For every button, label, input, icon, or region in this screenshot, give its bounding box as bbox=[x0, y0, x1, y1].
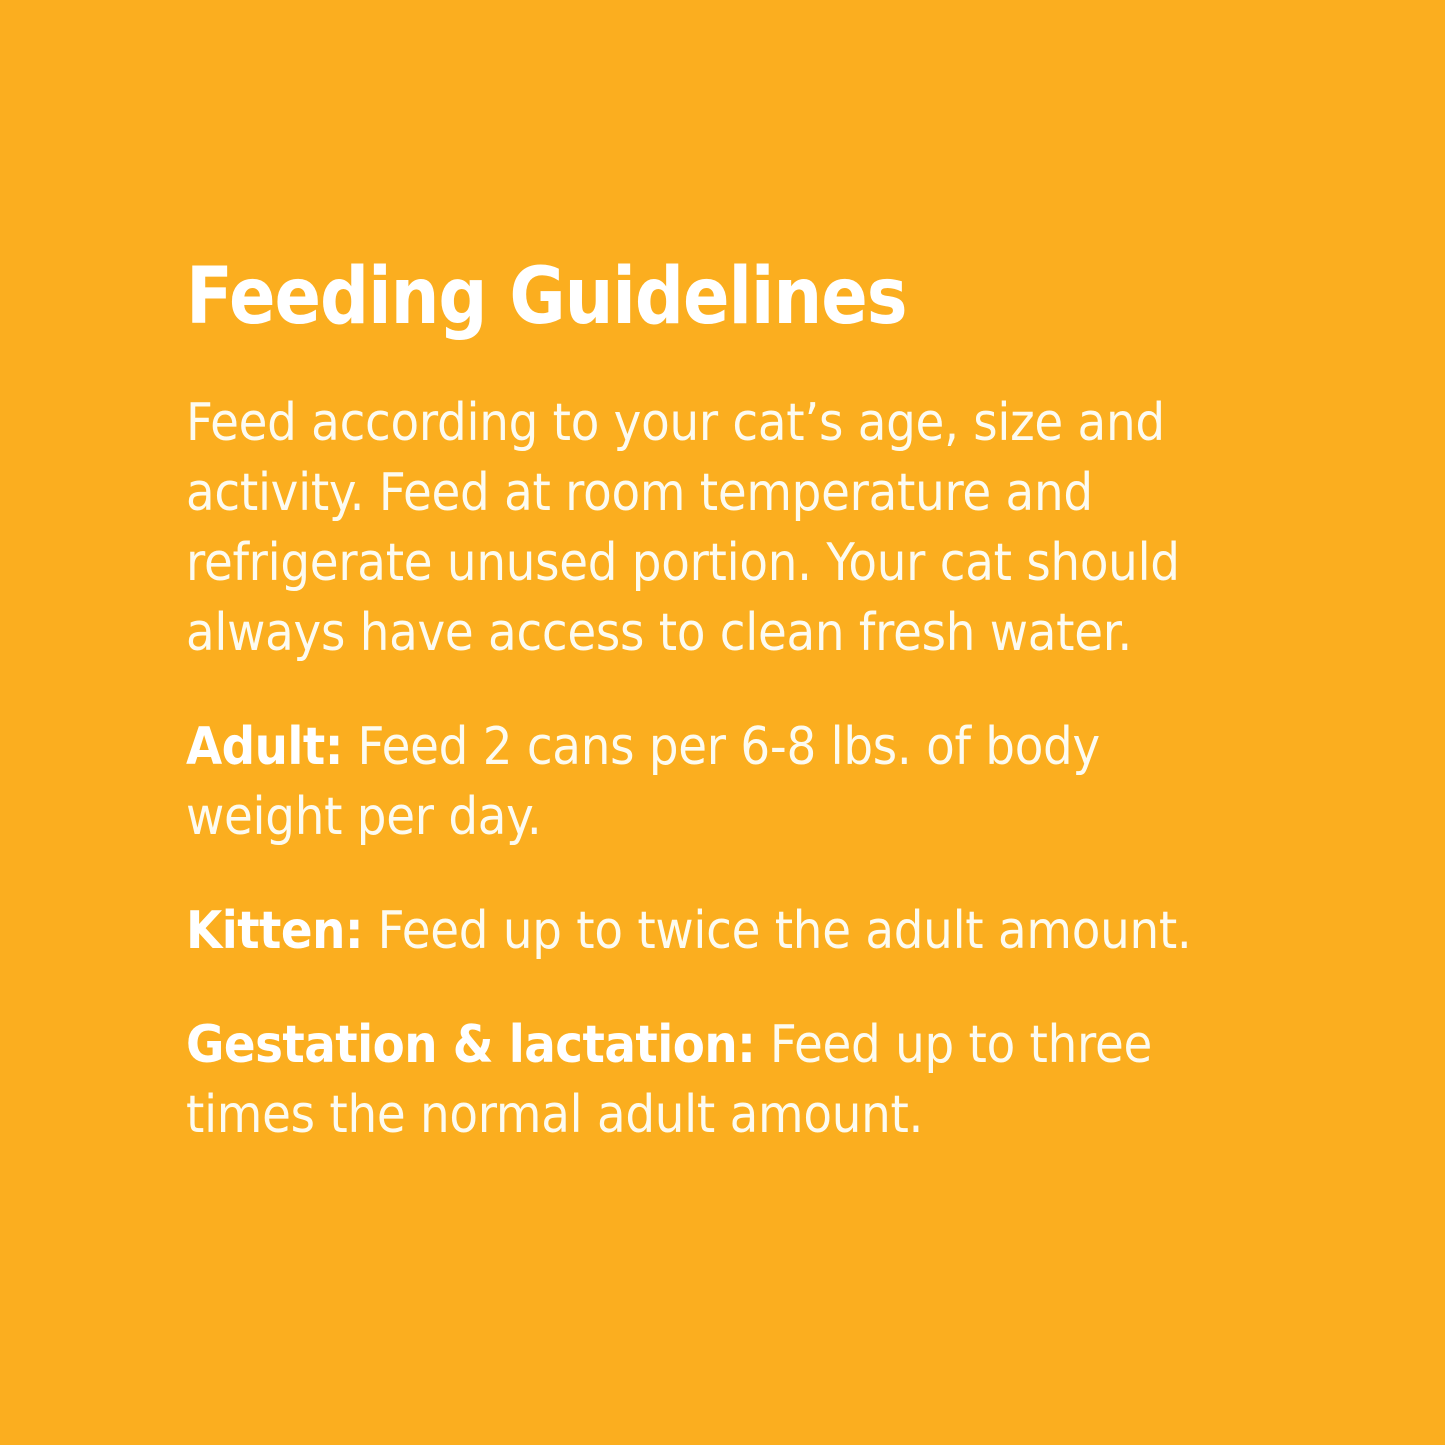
guideline-kitten-label: Kitten: bbox=[186, 901, 363, 961]
guideline-kitten: Kitten: Feed up to twice the adult amoun… bbox=[186, 896, 1271, 966]
guideline-adult: Adult: Feed 2 cans per 6-8 lbs. of body … bbox=[186, 712, 1271, 852]
feeding-guidelines-panel: Feeding Guidelines Feed according to you… bbox=[0, 0, 1445, 1445]
guideline-gestation-lactation-label: Gestation & lactation: bbox=[186, 1015, 755, 1075]
content-column: Feeding Guidelines Feed according to you… bbox=[186, 258, 1276, 1150]
guideline-kitten-text: Feed up to twice the adult amount. bbox=[363, 901, 1192, 961]
guideline-adult-label: Adult: bbox=[186, 717, 343, 777]
page-title: Feeding Guidelines bbox=[186, 258, 1145, 336]
intro-paragraph: Feed according to your cat’s age, size a… bbox=[186, 388, 1271, 668]
guideline-gestation-lactation: Gestation & lactation: Feed up to three … bbox=[186, 1010, 1271, 1150]
